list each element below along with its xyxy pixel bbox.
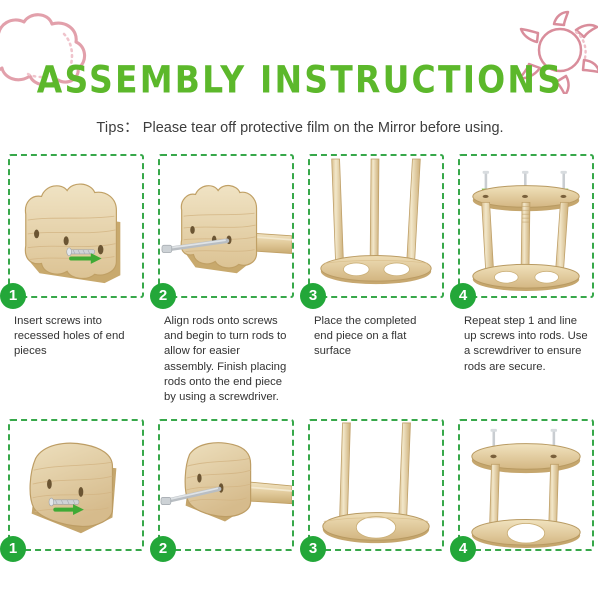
step-illustration — [460, 156, 592, 296]
step-illustration — [10, 421, 142, 549]
step-panel[interactable]: 2 — [158, 419, 294, 551]
step-panel[interactable]: 2 — [158, 154, 294, 298]
step-cell: 3 Place the completed end piece on a fla… — [300, 152, 450, 405]
step-panel[interactable]: 1 — [8, 154, 144, 298]
step-caption: Insert screws into recessed holes of end… — [14, 314, 138, 360]
step-caption: Place the completed end piece on a flat … — [314, 314, 438, 360]
step-caption: Repeat step 1 and line up screws into ro… — [464, 314, 588, 375]
step-number-badge: 1 — [0, 283, 26, 309]
step-number-badge: 4 — [450, 283, 476, 309]
tips-label: Tips： — [96, 120, 138, 136]
step-illustration — [160, 421, 292, 549]
step-panel[interactable]: 1 — [8, 419, 144, 551]
step-illustration — [310, 421, 442, 549]
step-cell: 1 Insert screws into recessed holes of e… — [0, 152, 150, 405]
step-number-badge: 3 — [300, 536, 326, 562]
step-row-two-rod-model: 1 — [0, 415, 600, 551]
step-illustration — [310, 156, 442, 296]
step-illustration — [460, 421, 592, 549]
page-title: ASSEMBLY INSTRUCTIONS — [37, 58, 563, 102]
step-caption: Align rods onto screws and begin to turn… — [164, 314, 288, 405]
step-illustration — [160, 156, 292, 296]
page-title-container: ASSEMBLY INSTRUCTIONS — [0, 60, 600, 99]
step-panel[interactable]: 3 — [308, 419, 444, 551]
step-cell: 4 Repeat step 1 and line up screws into … — [450, 152, 600, 405]
tips-line: Tips： Please tear off protective film on… — [0, 116, 600, 137]
step-illustration — [10, 156, 142, 296]
step-panel[interactable]: 3 — [308, 154, 444, 298]
step-number-badge: 4 — [450, 536, 476, 562]
step-cell: 4 — [450, 415, 600, 551]
step-number-badge: 2 — [150, 536, 176, 562]
steps-grid: 1 Insert screws into recessed holes of e… — [0, 152, 600, 551]
step-cell: 3 — [300, 415, 450, 551]
row-divider-space — [0, 405, 600, 415]
step-panel[interactable]: 4 — [458, 154, 594, 298]
tips-text: Please tear off protective film on the M… — [143, 120, 504, 136]
step-cell: 1 — [0, 415, 150, 551]
step-panel[interactable]: 4 — [458, 419, 594, 551]
step-number-badge: 2 — [150, 283, 176, 309]
step-number-badge: 3 — [300, 283, 326, 309]
step-cell: 2 Align rods onto screws and begin to tu… — [150, 152, 300, 405]
step-row-three-rod-model: 1 Insert screws into recessed holes of e… — [0, 152, 600, 405]
step-cell: 2 — [150, 415, 300, 551]
step-number-badge: 1 — [0, 536, 26, 562]
